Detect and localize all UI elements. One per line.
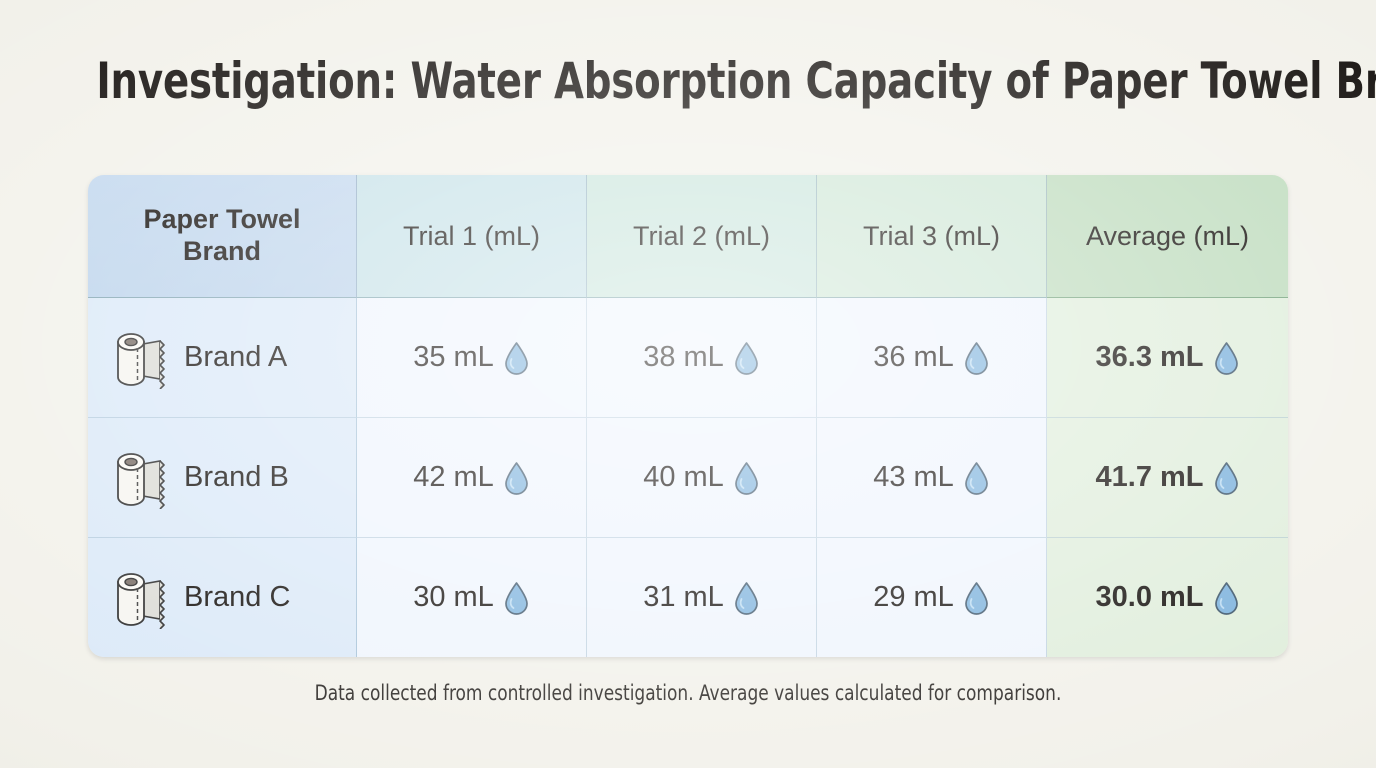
water-droplet-icon: [503, 581, 530, 615]
value-text: 43 mL: [873, 463, 954, 492]
brand-label: Brand B: [184, 461, 289, 494]
value-text: 36 mL: [873, 343, 954, 372]
column-header-brand-line2: Brand: [183, 236, 261, 266]
value-text: 35 mL: [413, 343, 494, 372]
cell-brand: Brand B: [88, 418, 357, 538]
water-droplet-icon: [1213, 461, 1240, 495]
value-text: 29 mL: [873, 583, 954, 612]
paper-towel-roll-icon: [110, 567, 170, 629]
cell-trial-3: 43 mL: [817, 418, 1047, 538]
water-droplet-icon: [503, 341, 530, 375]
column-header-brand: Paper Towel Brand: [88, 175, 357, 298]
value-text: 41.7 mL: [1096, 463, 1204, 492]
cell-trial-2: 40 mL: [587, 418, 817, 538]
table-row: Brand A 35 mL: [88, 298, 1288, 418]
column-header-average: Average (mL): [1047, 175, 1288, 298]
water-droplet-icon: [963, 581, 990, 615]
value-text: 38 mL: [643, 343, 724, 372]
value-text: 31 mL: [643, 583, 724, 612]
table-row: Brand C 30 mL: [88, 538, 1288, 657]
water-droplet-icon: [733, 341, 760, 375]
value-text: 30.0 mL: [1096, 583, 1204, 612]
paper-towel-roll-icon: [110, 327, 170, 389]
absorption-data-table: Paper Towel Brand Trial 1 (mL) Trial 2 (…: [88, 175, 1288, 657]
data-table-container: Paper Towel Brand Trial 1 (mL) Trial 2 (…: [88, 175, 1288, 655]
cell-trial-1: 35 mL: [357, 298, 587, 418]
paper-towel-roll-icon: [110, 447, 170, 509]
table-header: Paper Towel Brand Trial 1 (mL) Trial 2 (…: [88, 175, 1288, 298]
table-header-row: Paper Towel Brand Trial 1 (mL) Trial 2 (…: [88, 175, 1288, 298]
cell-trial-2: 31 mL: [587, 538, 817, 657]
cell-average: 36.3 mL: [1047, 298, 1288, 418]
brand-label: Brand C: [184, 581, 290, 614]
cell-trial-3: 36 mL: [817, 298, 1047, 418]
brand-label: Brand A: [184, 341, 287, 374]
water-droplet-icon: [503, 461, 530, 495]
table-row: Brand B 42 mL: [88, 418, 1288, 538]
water-droplet-icon: [1213, 581, 1240, 615]
cell-brand: Brand C: [88, 538, 357, 657]
column-header-brand-line1: Paper Towel: [143, 204, 300, 234]
value-text: 30 mL: [413, 583, 494, 612]
cell-trial-2: 38 mL: [587, 298, 817, 418]
value-text: 42 mL: [413, 463, 494, 492]
cell-average: 41.7 mL: [1047, 418, 1288, 538]
water-droplet-icon: [733, 581, 760, 615]
footnote-text: Data collected from controlled investiga…: [69, 681, 1307, 705]
value-text: 36.3 mL: [1096, 343, 1204, 372]
water-droplet-icon: [733, 461, 760, 495]
column-header-trial-3: Trial 3 (mL): [817, 175, 1047, 298]
column-header-trial-2: Trial 2 (mL): [587, 175, 817, 298]
value-text: 40 mL: [643, 463, 724, 492]
water-droplet-icon: [1213, 341, 1240, 375]
cell-brand: Brand A: [88, 298, 357, 418]
cell-trial-1: 30 mL: [357, 538, 587, 657]
infographic-page: Investigation: Water Absorption Capacity…: [0, 0, 1376, 768]
column-header-trial-1: Trial 1 (mL): [357, 175, 587, 298]
water-droplet-icon: [963, 341, 990, 375]
cell-average: 30.0 mL: [1047, 538, 1288, 657]
table-body: Brand A 35 mL: [88, 298, 1288, 657]
page-title: Investigation: Water Absorption Capacity…: [96, 52, 1279, 110]
cell-trial-3: 29 mL: [817, 538, 1047, 657]
cell-trial-1: 42 mL: [357, 418, 587, 538]
water-droplet-icon: [963, 461, 990, 495]
